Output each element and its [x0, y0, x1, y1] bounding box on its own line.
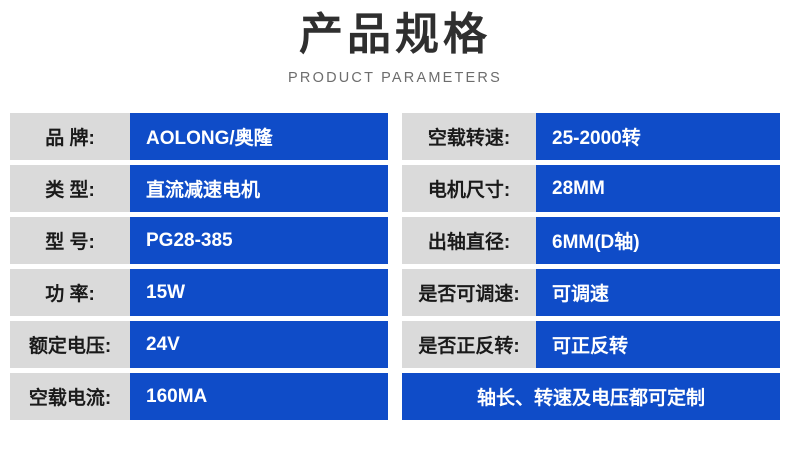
- spec-value-no-load-speed: 25-2000转: [536, 113, 780, 160]
- spec-pair-brand: 品 牌: AOLONG/奥隆: [10, 113, 388, 160]
- spec-value-shaft-diameter: 6MM(D轴): [536, 217, 780, 264]
- spec-pair-speed-adjustable: 是否可调速: 可调速: [402, 269, 780, 316]
- spec-label-reversible: 是否正反转:: [402, 321, 536, 368]
- spec-value-type: 直流减速电机: [130, 165, 388, 212]
- spec-value-no-load-current: 160MA: [130, 373, 388, 420]
- column-divider: [388, 113, 402, 160]
- specification-table: 品 牌: AOLONG/奥隆 空载转速: 25-2000转 类 型: 直流减速电…: [10, 113, 780, 425]
- spec-pair-customization-note: 轴长、转速及电压都可定制: [402, 373, 780, 420]
- column-divider: [388, 217, 402, 264]
- spec-label-speed-adjustable: 是否可调速:: [402, 269, 536, 316]
- spec-pair-no-load-speed: 空载转速: 25-2000转: [402, 113, 780, 160]
- spec-value-rated-voltage: 24V: [130, 321, 388, 368]
- spec-value-motor-size: 28MM: [536, 165, 780, 212]
- spec-pair-no-load-current: 空载电流: 160MA: [10, 373, 388, 420]
- spec-label-no-load-speed: 空载转速:: [402, 113, 536, 160]
- spec-pair-motor-size: 电机尺寸: 28MM: [402, 165, 780, 212]
- table-row: 型 号: PG28-385 出轴直径: 6MM(D轴): [10, 217, 780, 264]
- column-divider: [388, 165, 402, 212]
- page-title: 产品规格: [0, 10, 790, 61]
- spec-label-shaft-diameter: 出轴直径:: [402, 217, 536, 264]
- product-spec-page: 产品规格 PRODUCT PARAMETERS 品 牌: AOLONG/奥隆 空…: [0, 0, 790, 457]
- spec-value-power: 15W: [130, 269, 388, 316]
- spec-pair-type: 类 型: 直流减速电机: [10, 165, 388, 212]
- table-row: 品 牌: AOLONG/奥隆 空载转速: 25-2000转: [10, 113, 780, 160]
- spec-label-motor-size: 电机尺寸:: [402, 165, 536, 212]
- spec-label-brand: 品 牌:: [10, 113, 130, 160]
- table-row: 额定电压: 24V 是否正反转: 可正反转: [10, 321, 780, 368]
- column-divider: [388, 373, 402, 420]
- spec-pair-model: 型 号: PG28-385: [10, 217, 388, 264]
- spec-pair-power: 功 率: 15W: [10, 269, 388, 316]
- page-subtitle: PRODUCT PARAMETERS: [0, 70, 790, 86]
- spec-value-reversible: 可正反转: [536, 321, 780, 368]
- spec-label-no-load-current: 空载电流:: [10, 373, 130, 420]
- table-row: 空载电流: 160MA 轴长、转速及电压都可定制: [10, 373, 780, 420]
- spec-value-speed-adjustable: 可调速: [536, 269, 780, 316]
- column-divider: [388, 321, 402, 368]
- table-row: 类 型: 直流减速电机 电机尺寸: 28MM: [10, 165, 780, 212]
- page-header: 产品规格 PRODUCT PARAMETERS: [0, 0, 790, 86]
- spec-pair-shaft-diameter: 出轴直径: 6MM(D轴): [402, 217, 780, 264]
- spec-pair-rated-voltage: 额定电压: 24V: [10, 321, 388, 368]
- column-divider: [388, 269, 402, 316]
- spec-value-customization-note: 轴长、转速及电压都可定制: [402, 373, 780, 420]
- spec-label-model: 型 号:: [10, 217, 130, 264]
- spec-label-type: 类 型:: [10, 165, 130, 212]
- spec-label-power: 功 率:: [10, 269, 130, 316]
- table-row: 功 率: 15W 是否可调速: 可调速: [10, 269, 780, 316]
- spec-label-rated-voltage: 额定电压:: [10, 321, 130, 368]
- spec-pair-reversible: 是否正反转: 可正反转: [402, 321, 780, 368]
- spec-value-model: PG28-385: [130, 217, 388, 264]
- spec-value-brand: AOLONG/奥隆: [130, 113, 388, 160]
